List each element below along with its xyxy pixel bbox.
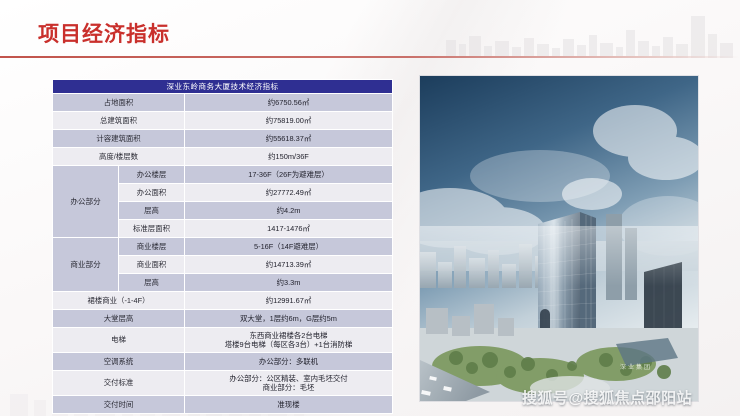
row-value: 1417-1476㎡ bbox=[185, 220, 393, 238]
site-watermark: 搜狐号@搜狐焦点邵阳站 bbox=[522, 387, 692, 408]
row-label: 占地面积 bbox=[53, 94, 185, 112]
row-label: 大堂层高 bbox=[53, 310, 185, 328]
row-value: 约55618.37㎡ bbox=[185, 130, 393, 148]
row-value-line2: 塔楼9台电梯（每区各3台）+1台消防梯 bbox=[185, 340, 392, 349]
spec-table: 深业东岭商务大厦技术经济指标 占地面积 约6750.56㎡ 总建筑面积 约758… bbox=[52, 79, 393, 414]
table-row: 办公部分 办公楼层 17-36F（26F为避难层） bbox=[53, 166, 393, 184]
row-label: 商业面积 bbox=[119, 256, 185, 274]
table-row: 交付时间 准现楼 bbox=[53, 396, 393, 414]
row-value-line2: 商业部分：毛坯 bbox=[185, 383, 392, 392]
row-value: 约12991.67㎡ bbox=[185, 292, 393, 310]
title-divider bbox=[0, 56, 740, 58]
row-value: 约4.2m bbox=[185, 202, 393, 220]
row-label: 办公面积 bbox=[119, 184, 185, 202]
developer-logo-text: 深业集团 bbox=[620, 362, 652, 371]
row-value: 约3.3m bbox=[185, 274, 393, 292]
table-row: 裙楼商业（-1-4F） 约12991.67㎡ bbox=[53, 292, 393, 310]
row-value: 约27772.49㎡ bbox=[185, 184, 393, 202]
table-title: 深业东岭商务大厦技术经济指标 bbox=[53, 80, 393, 94]
page-title-block: 项目经济指标 bbox=[38, 22, 170, 48]
row-label: 交付标准 bbox=[53, 371, 185, 396]
table-row: 大堂层高 双大堂，1层约6m，G层约5m bbox=[53, 310, 393, 328]
table-header-row: 深业东岭商务大厦技术经济指标 bbox=[53, 80, 393, 94]
row-label: 总建筑面积 bbox=[53, 112, 185, 130]
row-value: 17-36F（26F为避难层） bbox=[185, 166, 393, 184]
row-label: 层高 bbox=[119, 202, 185, 220]
table-row: 空调系统 办公部分：多联机 bbox=[53, 353, 393, 371]
row-value-line1: 办公部分：公区精装、室内毛坯交付 bbox=[185, 374, 392, 383]
row-value: 办公部分：公区精装、室内毛坯交付 商业部分：毛坯 bbox=[185, 371, 393, 396]
row-label: 空调系统 bbox=[53, 353, 185, 371]
table-row: 交付标准 办公部分：公区精装、室内毛坯交付 商业部分：毛坯 bbox=[53, 371, 393, 396]
page-title: 项目经济指标 bbox=[38, 22, 170, 48]
row-value: 办公部分：多联机 bbox=[185, 353, 393, 371]
row-value: 约14713.39㎡ bbox=[185, 256, 393, 274]
row-label: 标准层面积 bbox=[119, 220, 185, 238]
row-value-line1: 东西商业裙楼各2台电梯 bbox=[185, 331, 392, 340]
row-value: 准现楼 bbox=[185, 396, 393, 414]
row-group-label: 办公部分 bbox=[53, 166, 119, 238]
table-row: 高度/楼层数 约150m/36F bbox=[53, 148, 393, 166]
slide-canvas: 项目经济指标 深业东岭商务大厦技术经济指标 占地面积 约6750.56㎡ 总建筑… bbox=[0, 0, 740, 416]
row-label: 裙楼商业（-1-4F） bbox=[53, 292, 185, 310]
row-label: 商业楼层 bbox=[119, 238, 185, 256]
row-label: 高度/楼层数 bbox=[53, 148, 185, 166]
row-label: 计容建筑面积 bbox=[53, 130, 185, 148]
table-row: 总建筑面积 约75819.00㎡ bbox=[53, 112, 393, 130]
row-value: 双大堂，1层约6m，G层约5m bbox=[185, 310, 393, 328]
table-row: 计容建筑面积 约55618.37㎡ bbox=[53, 130, 393, 148]
row-label: 层高 bbox=[119, 274, 185, 292]
skyline-watermark-top-icon bbox=[440, 0, 740, 58]
row-label: 交付时间 bbox=[53, 396, 185, 414]
building-rendering-svg bbox=[420, 76, 698, 401]
row-label: 电梯 bbox=[53, 328, 185, 353]
table-row: 商业部分 商业楼层 5-16F（14F避难层） bbox=[53, 238, 393, 256]
spec-table-container: 深业东岭商务大厦技术经济指标 占地面积 约6750.56㎡ 总建筑面积 约758… bbox=[52, 79, 392, 414]
row-value: 约75819.00㎡ bbox=[185, 112, 393, 130]
table-row: 电梯 东西商业裙楼各2台电梯 塔楼9台电梯（每区各3台）+1台消防梯 bbox=[53, 328, 393, 353]
row-value: 约6750.56㎡ bbox=[185, 94, 393, 112]
row-value: 约150m/36F bbox=[185, 148, 393, 166]
row-value: 5-16F（14F避难层） bbox=[185, 238, 393, 256]
table-row: 占地面积 约6750.56㎡ bbox=[53, 94, 393, 112]
building-rendering-photo: 深业集团 bbox=[420, 76, 698, 401]
row-label: 办公楼层 bbox=[119, 166, 185, 184]
row-group-label: 商业部分 bbox=[53, 238, 119, 292]
row-value: 东西商业裙楼各2台电梯 塔楼9台电梯（每区各3台）+1台消防梯 bbox=[185, 328, 393, 353]
